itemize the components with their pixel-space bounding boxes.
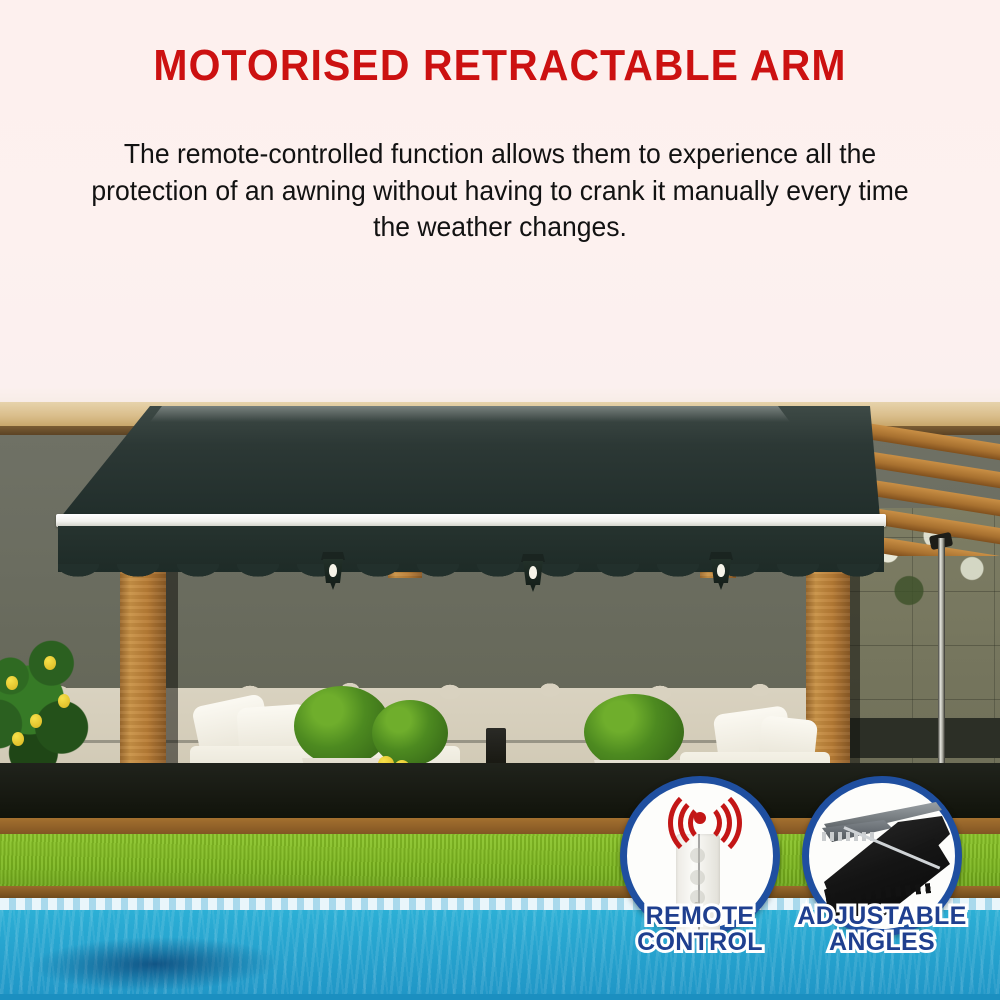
wall-lamp-center xyxy=(520,554,546,596)
product-photo: REMOTE CONTROL ADJUSTABLE ANGLES xyxy=(0,388,1000,1000)
lemon-fruit xyxy=(58,694,70,708)
badge-label-line1: ADJUSTABLE xyxy=(780,904,984,930)
lemon-fruit xyxy=(44,656,56,670)
header-section: MOTORISED RETRACTABLE ARM The remote-con… xyxy=(0,0,1000,388)
signal-waves-icon xyxy=(650,786,750,848)
badge-label: REMOTE CONTROL xyxy=(598,904,802,955)
lemon-fruit xyxy=(12,732,24,746)
badge-label: ADJUSTABLE ANGLES xyxy=(780,904,984,955)
badge-label-line2: CONTROL xyxy=(598,930,802,956)
lamp-finial-icon xyxy=(530,584,536,592)
lamp-hood-icon xyxy=(709,552,733,560)
lamp-finial-icon xyxy=(718,582,724,590)
pool-bottom-edge xyxy=(0,994,1000,1000)
lamp-bulb-icon xyxy=(717,564,725,577)
lemon-fruit xyxy=(30,714,42,728)
badge-adjustable-angles[interactable]: ADJUSTABLE ANGLES xyxy=(802,776,962,936)
pool-shadow xyxy=(0,928,332,1000)
page-title: MOTORISED RETRACTABLE ARM xyxy=(35,44,965,88)
lamp-finial-icon xyxy=(330,582,336,590)
product-feature-banner: MOTORISED RETRACTABLE ARM The remote-con… xyxy=(0,0,1000,1000)
lamp-bulb-icon xyxy=(329,564,337,577)
lamp-bulb-icon xyxy=(529,566,537,579)
wall-lamp-right xyxy=(708,552,734,594)
badge-label-line2: ANGLES xyxy=(780,930,984,956)
lemon-fruit xyxy=(6,676,18,690)
page-subtitle: The remote-controlled function allows th… xyxy=(87,136,913,246)
remote-button-icon xyxy=(690,870,705,885)
badge-remote-control[interactable]: REMOTE CONTROL xyxy=(620,776,780,936)
awning-valance-scallop xyxy=(58,564,884,584)
awning-canopy xyxy=(60,406,880,518)
topiary-bush-right xyxy=(584,694,684,770)
lamp-hood-icon xyxy=(321,552,345,560)
badge-label-line1: REMOTE xyxy=(598,904,802,930)
wall-lamp-left xyxy=(320,552,346,594)
signal-dot-icon xyxy=(697,815,703,821)
lamp-hood-icon xyxy=(521,554,545,562)
awning-highlight xyxy=(150,406,790,422)
